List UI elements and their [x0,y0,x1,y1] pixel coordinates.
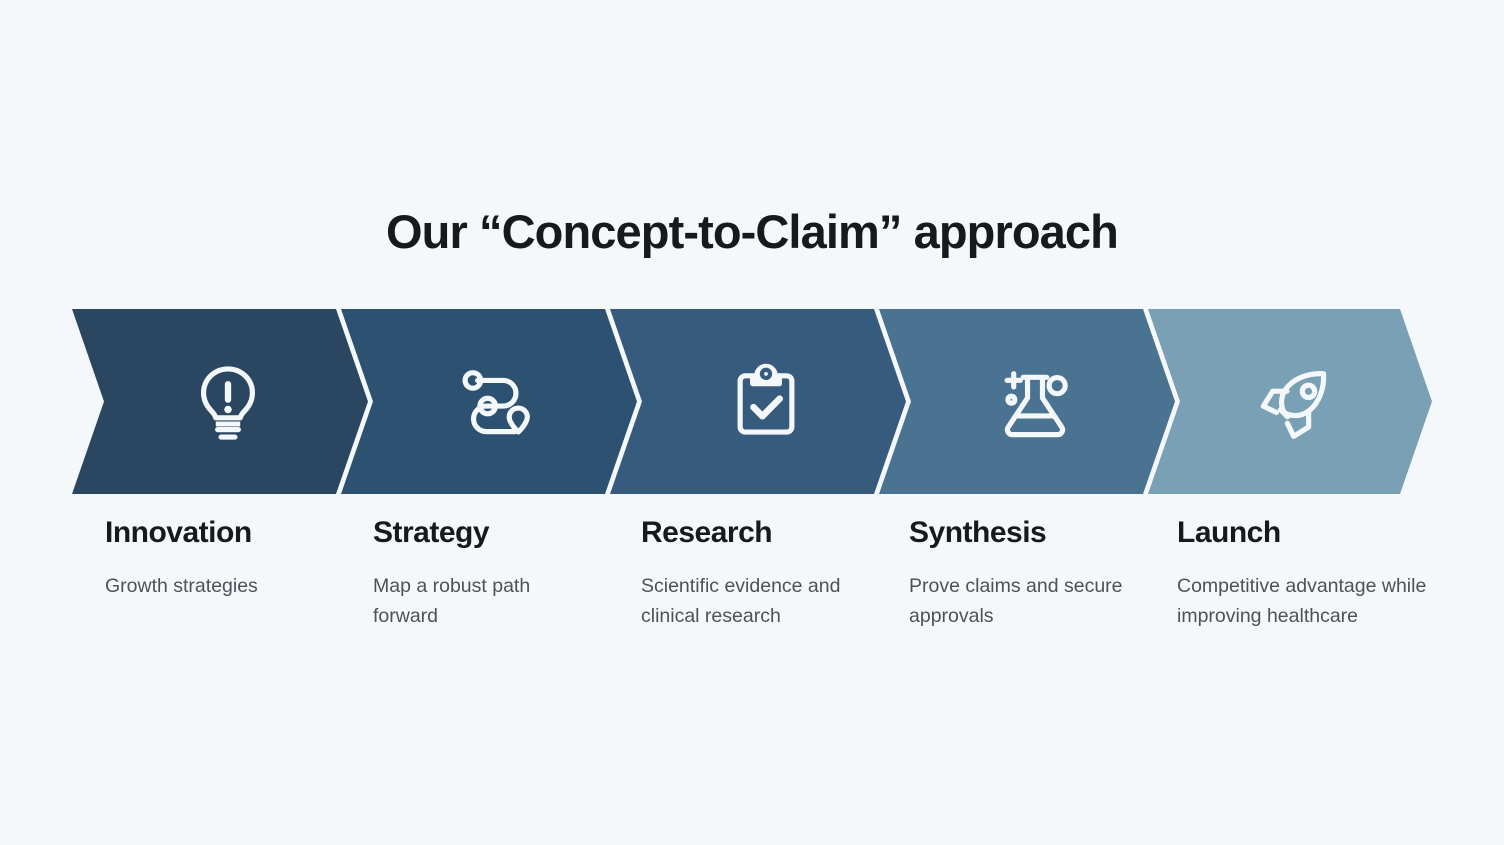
step-desc-research: Scientific evidence and clinical researc… [641,571,881,632]
page-title: Our “Concept-to-Claim” approach [0,206,1504,258]
process-chevron-band [72,309,1432,494]
step-label-research: Research Scientific evidence and clinica… [641,516,881,631]
step-desc-synthesis: Prove claims and secure approvals [909,571,1124,632]
chevron-step-research[interactable] [610,309,906,494]
step-title-innovation: Innovation [105,516,355,551]
step-label-strategy: Strategy Map a robust path forward [373,516,598,631]
clipboard-check-icon [720,356,812,448]
step-label-innovation: Innovation Growth strategies [105,516,355,601]
step-title-launch: Launch [1177,516,1427,551]
slide-canvas: Our “Concept-to-Claim” approach [0,0,1504,845]
chevron-step-synthesis[interactable] [879,309,1175,494]
chevron-step-launch[interactable] [1148,309,1432,494]
step-labels-row: Innovation Growth strategies Strategy Ma… [0,516,1504,716]
route-path-pin-icon [451,356,543,448]
lab-flask-icon [989,356,1081,448]
step-label-synthesis: Synthesis Prove claims and secure approv… [909,516,1124,631]
step-desc-innovation: Growth strategies [105,571,355,601]
step-desc-strategy: Map a robust path forward [373,571,598,632]
rocket-icon [1252,356,1344,448]
step-desc-launch: Competitive advantage while improving he… [1177,571,1427,632]
lightbulb-exclamation-icon [182,356,274,448]
step-title-synthesis: Synthesis [909,516,1124,551]
chevron-step-innovation[interactable] [72,309,368,494]
chevron-step-strategy[interactable] [341,309,637,494]
step-title-research: Research [641,516,881,551]
step-label-launch: Launch Competitive advantage while impro… [1177,516,1427,631]
step-title-strategy: Strategy [373,516,598,551]
